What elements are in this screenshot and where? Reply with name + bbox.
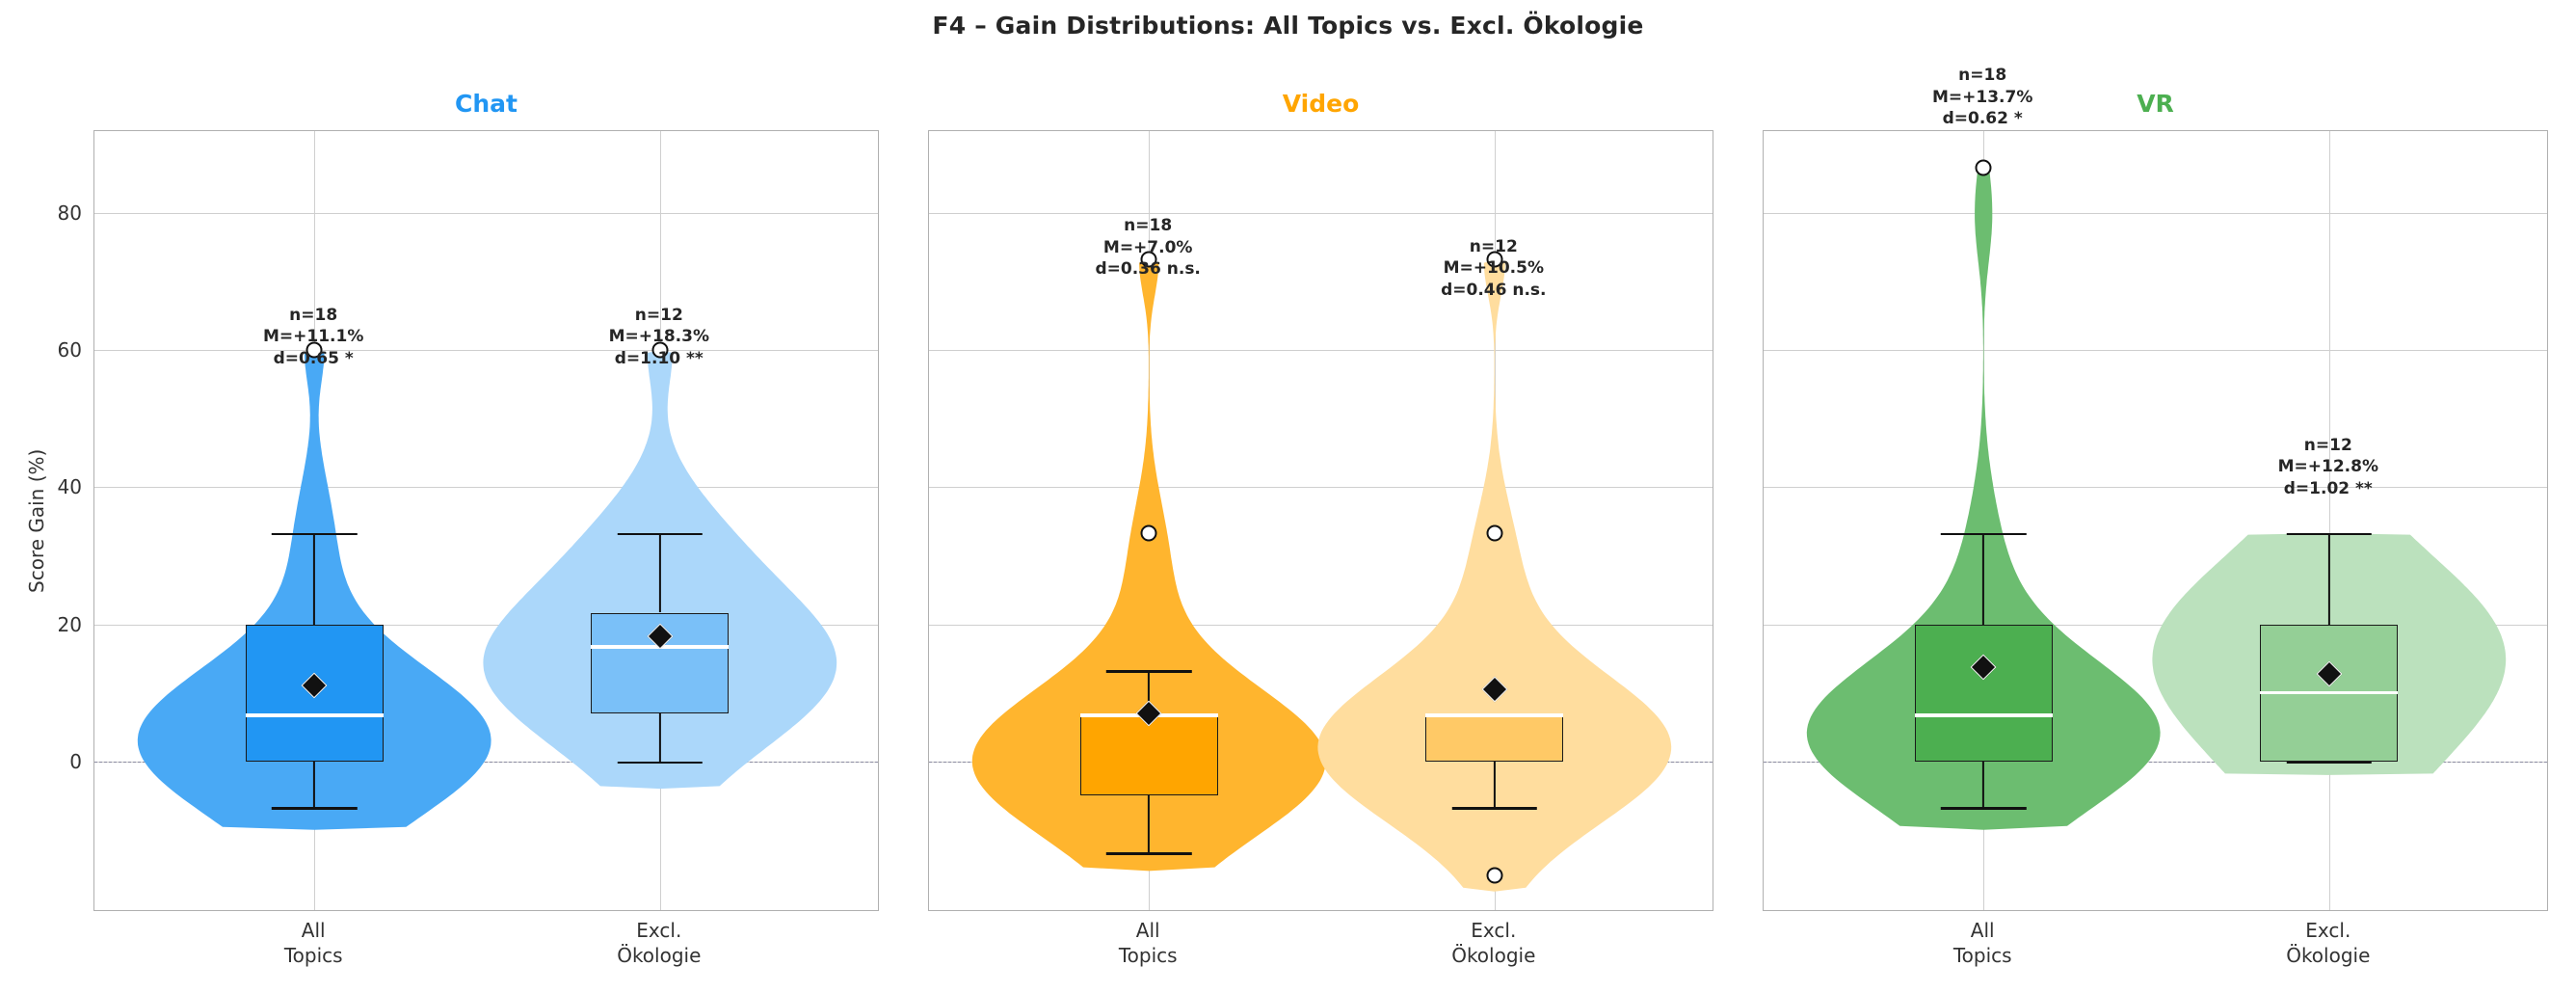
y-tick-label: 40 [14, 475, 82, 498]
whisker-cap-lower [618, 762, 703, 764]
x-tick-label: All Topics [1119, 919, 1178, 968]
panel-chat: ChatAll Topicsn=18 M=+11.1% d=0.65 *Excl… [93, 130, 879, 911]
median-line [2260, 691, 2398, 694]
plot-area-vr [1763, 130, 2548, 911]
boxplot-group [1764, 131, 2547, 910]
whisker-upper [659, 533, 661, 612]
whisker-upper [2328, 533, 2330, 625]
whisker-lower [659, 713, 661, 762]
figure-title: F4 – Gain Distributions: All Topics vs. … [0, 12, 2576, 40]
group-annotation: n=18 M=+13.7% d=0.62 * [1932, 65, 2032, 129]
plot-area-chat [93, 130, 879, 911]
plot-clip [1764, 131, 2547, 910]
plot-clip [929, 131, 1713, 910]
whisker-cap-upper [618, 533, 703, 535]
y-tick-label: 20 [14, 613, 82, 636]
figure-canvas: F4 – Gain Distributions: All Topics vs. … [0, 0, 2576, 993]
y-tick-label: 0 [14, 750, 82, 773]
group-annotation: n=18 M=+11.1% d=0.65 * [263, 305, 363, 369]
whisker-cap-upper [2287, 533, 2372, 535]
x-tick-label: All Topics [284, 919, 343, 968]
outlier-point [1486, 525, 1502, 542]
outlier-point [1141, 525, 1157, 542]
y-tick-label: 80 [14, 201, 82, 225]
box-iqr [1425, 715, 1563, 762]
whisker-lower [1494, 762, 1496, 808]
x-tick-label: Excl. Ökologie [1451, 919, 1535, 968]
panel-video: VideoAll Topicsn=18 M=+7.0% d=0.36 n.s.E… [928, 130, 1713, 911]
group-annotation: n=12 M=+10.5% d=0.46 n.s. [1441, 236, 1546, 301]
y-axis-label: Score Gain (%) [25, 449, 48, 593]
whisker-cap-lower [2287, 762, 2372, 764]
plot-clip [94, 131, 878, 910]
panel-title-vr: VR [1763, 90, 2548, 118]
group-annotation: n=12 M=+12.8% d=1.02 ** [2278, 435, 2378, 499]
outlier-point [1976, 159, 1992, 175]
outlier-point [1486, 868, 1502, 884]
plot-area-video [928, 130, 1713, 911]
x-tick-label: Excl. Ökologie [2286, 919, 2370, 968]
boxplot-group [929, 131, 1713, 910]
group-annotation: n=12 M=+18.3% d=1.10 ** [609, 305, 709, 369]
boxplot-group [94, 131, 878, 910]
x-tick-label: All Topics [1953, 919, 2012, 968]
group-annotation: n=18 M=+7.0% d=0.36 n.s. [1095, 215, 1200, 280]
median-line [1425, 713, 1563, 716]
panel-vr: VRAll Topicsn=18 M=+13.7% d=0.62 *Excl. … [1763, 130, 2548, 911]
panel-title-chat: Chat [93, 90, 879, 118]
mean-marker [1481, 677, 1507, 703]
y-tick-label: 60 [14, 338, 82, 362]
x-tick-label: Excl. Ökologie [617, 919, 701, 968]
whisker-cap-lower [1452, 807, 1537, 809]
panel-title-video: Video [928, 90, 1713, 118]
